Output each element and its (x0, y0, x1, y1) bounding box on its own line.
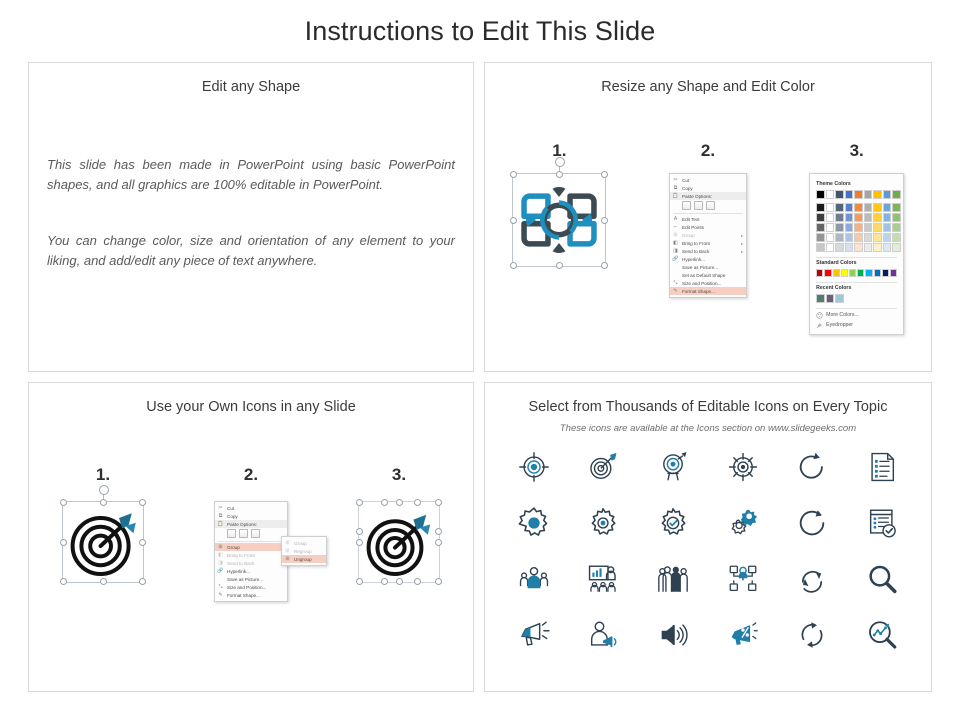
standard-colors-label: Standard Colors (816, 260, 897, 266)
menu-item-label: Size and Position... (227, 585, 284, 590)
theme-swatch-base[interactable] (854, 190, 863, 199)
own-icons-step-numbers: 1. 2. 3. (29, 465, 473, 485)
icon-cell-r1-c4[interactable] (708, 445, 778, 489)
theme-swatch-base[interactable] (845, 190, 854, 199)
menu-item-label: Group (227, 545, 278, 550)
theme-swatch-shade-2[interactable] (816, 213, 825, 222)
standard-swatch-9[interactable] (882, 269, 889, 278)
menu-item-cut[interactable]: ✂Cut (215, 504, 287, 512)
icon-cell-r2-c6[interactable] (847, 501, 917, 545)
theme-color-column-6[interactable] (864, 190, 873, 252)
recent-swatch-2[interactable] (826, 294, 835, 303)
standard-swatch-3[interactable] (833, 269, 840, 278)
format-shape-icon: ✎ (217, 592, 224, 599)
paste-option-3-icon[interactable] (251, 529, 260, 538)
target-handle-bottom-right[interactable] (139, 578, 146, 585)
paste-option-buttons[interactable] (215, 528, 287, 539)
icon-cell-r2-c2[interactable] (569, 501, 639, 545)
recent-colors-row[interactable] (816, 294, 897, 303)
edit-points-icon: ⌐ (672, 224, 679, 231)
theme-swatch-shade-1[interactable] (892, 203, 901, 212)
theme-swatch-shade-3[interactable] (864, 223, 873, 232)
palette-icon (816, 312, 823, 319)
menu-item-save-as-picture[interactable]: Save as Picture... (215, 575, 287, 583)
menu-item-group[interactable]: ⊞Group▸ (215, 543, 287, 551)
theme-swatch-base[interactable] (864, 190, 873, 199)
own-icons-illustrations: ✂Cut⧉Copy📋Paste Options:⊞Group▸◧Bring to… (29, 501, 473, 602)
shape-selection-frame[interactable] (512, 173, 606, 267)
eyedropper-option[interactable]: Eyedropper (816, 322, 897, 329)
menu-item-size-and-position[interactable]: ⤡Size and Position... (670, 279, 746, 287)
theme-swatch-base[interactable] (816, 190, 825, 199)
menu-item-copy[interactable]: ⧉Copy (670, 184, 746, 192)
menu-item-label: Cut (227, 506, 284, 511)
theme-swatch-base[interactable] (883, 190, 892, 199)
icon-cell-r2-c3[interactable] (638, 501, 708, 545)
speaker-sound-icon (656, 618, 690, 652)
menu-item-label: Format Shape... (227, 593, 284, 598)
menu-item-label: Size and Position... (682, 281, 743, 286)
submenu-item-label: Ungroup (294, 557, 323, 562)
icon-step-number-2: 2. (177, 465, 325, 485)
theme-swatch-shade-2[interactable] (845, 213, 854, 222)
theme-color-column-7[interactable] (873, 190, 882, 252)
theme-color-column-2[interactable] (826, 190, 835, 252)
menu-item-send-to-back[interactable]: ◨Send to Back▸ (215, 559, 287, 567)
color-divider-1 (816, 257, 897, 258)
recent-swatch-1[interactable] (816, 294, 825, 303)
theme-swatch-shade-5[interactable] (864, 243, 873, 252)
sub-handle-e[interactable] (381, 578, 388, 585)
submenu-item-group[interactable]: ⊞Group (282, 539, 326, 547)
group-context-menu[interactable]: ✂Cut⧉Copy📋Paste Options:⊞Group▸◧Bring to… (214, 501, 288, 602)
swatch-gap (845, 200, 854, 202)
theme-swatch-shade-4[interactable] (864, 233, 873, 242)
theme-swatch-shade-3[interactable] (854, 223, 863, 232)
theme-swatch-shade-4[interactable] (854, 233, 863, 242)
format-shape-icon: ✎ (672, 288, 679, 295)
theme-swatch-shade-3[interactable] (873, 223, 882, 232)
theme-swatch-shade-1[interactable] (845, 203, 854, 212)
theme-colors-grid[interactable] (816, 190, 897, 252)
icon-cell-r4-c2[interactable] (569, 613, 639, 657)
theme-swatch-shade-4[interactable] (835, 233, 844, 242)
menu-item-edit-text[interactable]: AEdit Text (670, 215, 746, 223)
send-back-icon: ◨ (217, 560, 224, 567)
swatch-gap (835, 200, 844, 202)
resize-handle-bottom-center[interactable] (556, 262, 563, 269)
standard-swatch-4[interactable] (841, 269, 848, 278)
copy-icon: ⧉ (217, 513, 224, 520)
gears-dual-icon (726, 506, 760, 540)
icon-cell-r4-c1[interactable] (499, 613, 569, 657)
theme-swatch-shade-3[interactable] (845, 223, 854, 232)
color-divider-2 (816, 282, 897, 283)
icon-cell-r3-c2[interactable] (569, 557, 639, 601)
group-icon: ⊞ (284, 548, 291, 555)
standard-swatch-10[interactable] (890, 269, 897, 278)
paste-option-1-icon[interactable] (227, 529, 236, 538)
theme-swatch-shade-2[interactable] (826, 213, 835, 222)
quad-module-shape-icon (513, 174, 605, 266)
menu-item-label: Copy (682, 186, 743, 191)
menu-item-label: Save as Picture... (682, 265, 743, 270)
menu-item-label: Group (682, 233, 737, 238)
target-selection-frame[interactable] (62, 501, 144, 583)
submenu-item-label: Group (294, 541, 323, 546)
theme-colors-label: Theme Colors (816, 181, 897, 187)
theme-swatch-shade-3[interactable] (816, 223, 825, 232)
menu-item-cut[interactable]: ✂Cut (670, 176, 746, 184)
theme-swatch-shade-4[interactable] (816, 233, 825, 242)
eyedropper-icon (816, 322, 823, 329)
menu-item-bring-to-front[interactable]: ◧Bring to Front▸ (670, 239, 746, 247)
target-rotation-handle[interactable] (99, 485, 109, 495)
icon-cell-r4-c3[interactable] (638, 613, 708, 657)
menu-item-bring-to-front[interactable]: ◧Bring to Front▸ (215, 551, 287, 559)
theme-swatch-shade-5[interactable] (835, 243, 844, 252)
theme-swatch-shade-1[interactable] (864, 203, 873, 212)
theme-swatch-shade-4[interactable] (892, 233, 901, 242)
standard-swatch-5[interactable] (849, 269, 856, 278)
icon-step-number-3: 3. (325, 465, 473, 485)
menu-separator (673, 213, 743, 214)
menu-item-label: Hyperlink... (227, 569, 284, 574)
menu-item-label: Bring to Front (227, 553, 278, 558)
eyedropper-label: Eyedropper (826, 322, 853, 328)
menu-item-label: Set as Default Shape (682, 273, 743, 278)
rotation-handle[interactable] (555, 157, 565, 167)
theme-color-column-8[interactable] (883, 190, 892, 252)
menu-item-paste-options[interactable]: 📋Paste Options: (670, 192, 746, 200)
theme-swatch-shade-2[interactable] (854, 213, 863, 222)
menu-item-label: Cut (682, 178, 743, 183)
panel-resize-shape: Resize any Shape and Edit Color 1. 2. 3. (484, 62, 932, 372)
menu-item-hyperlink[interactable]: 🔗Hyperlink... (215, 567, 287, 575)
theme-swatch-shade-5[interactable] (826, 243, 835, 252)
more-colors-option[interactable]: More Colors... (816, 312, 897, 319)
megaphone-percent-icon (726, 618, 760, 652)
sub-handle-d[interactable] (435, 528, 442, 535)
submenu-item-label: Regroup (294, 549, 323, 554)
menu-item-label: Hyperlink... (682, 257, 743, 262)
scissors-icon: ✂ (672, 177, 679, 184)
standard-swatch-7[interactable] (865, 269, 872, 278)
target-handle-middle-left[interactable] (60, 539, 67, 546)
menu-item-label: Format Shape... (682, 289, 743, 294)
edit-shape-paragraph-2: You can change color, size and orientati… (47, 231, 455, 271)
theme-swatch-base[interactable] (892, 190, 901, 199)
resize-handle-bottom-right[interactable] (601, 262, 608, 269)
refresh-clockwise-icon (795, 450, 829, 484)
standard-colors-row[interactable] (816, 269, 897, 278)
color-picker-panel[interactable]: Theme Colors Standard Colors Recent Colo… (809, 173, 904, 335)
icon-cell-r2-c1[interactable] (499, 501, 569, 545)
panel-icon-library: Select from Thousands of Editable Icons … (484, 382, 932, 692)
menu-item-label: Send to Back (682, 249, 737, 254)
magnifier-icon (865, 562, 899, 596)
gear-outline-icon (586, 506, 620, 540)
menu-item-label: Save as Picture... (227, 577, 284, 582)
menu-item-set-as-default-shape[interactable]: Set as Default Shape (670, 271, 746, 279)
theme-swatch-shade-3[interactable] (835, 223, 844, 232)
icon-cell-r2-c4[interactable] (708, 501, 778, 545)
hyperlink-icon: 🔗 (217, 568, 224, 575)
hyperlink-icon: 🔗 (672, 256, 679, 263)
menu-item-format-shape[interactable]: ✎Format Shape... (215, 591, 287, 599)
swatch-gap (826, 200, 835, 202)
edit-text-icon: A (672, 216, 679, 223)
ungrouped-target-frame[interactable] (358, 501, 440, 583)
theme-color-column-3[interactable] (835, 190, 844, 252)
group-icon: ⊞ (284, 540, 291, 547)
edit-shape-paragraph-1: This slide has been made in PowerPoint u… (47, 155, 455, 195)
icon-cell-r3-c5[interactable] (778, 557, 848, 601)
icon-cell-r3-c6[interactable] (847, 557, 917, 601)
group-icon: ⊞ (284, 556, 291, 563)
theme-swatch-base[interactable] (835, 190, 844, 199)
target-arrow-icon (586, 450, 620, 484)
checklist-document-icon (865, 450, 899, 484)
gear-check-icon (656, 506, 690, 540)
icon-cell-r1-c6[interactable] (847, 445, 917, 489)
theme-swatch-shade-5[interactable] (845, 243, 854, 252)
menu-separator (218, 541, 284, 542)
megaphone-icon (517, 618, 551, 652)
icon-library-grid (499, 445, 917, 657)
sub-handle-a[interactable] (381, 499, 388, 506)
theme-swatch-shade-1[interactable] (883, 203, 892, 212)
document-approved-icon (865, 506, 899, 540)
swatch-gap (816, 200, 825, 202)
menu-item-label: Edit Points (682, 225, 743, 230)
theme-swatch-shade-3[interactable] (892, 223, 901, 232)
more-colors-label: More Colors... (826, 312, 859, 318)
theme-swatch-shade-2[interactable] (864, 213, 873, 222)
panel-title-resize-shape: Resize any Shape and Edit Color (485, 79, 931, 95)
sub-handle-c[interactable] (356, 528, 363, 535)
recent-colors-label: Recent Colors (816, 285, 897, 291)
icon-step-3-stage (325, 501, 473, 583)
icon-cell-r4-c4[interactable] (708, 613, 778, 657)
icon-cell-r1-c1[interactable] (499, 445, 569, 489)
recent-swatch-3[interactable] (835, 294, 844, 303)
icon-cell-r3-c3[interactable] (638, 557, 708, 601)
target-handle-top-left[interactable] (60, 499, 67, 506)
page-title: Instructions to Edit This Slide (0, 16, 960, 47)
sub-handle-b[interactable] (414, 499, 421, 506)
target-arrow-icon (63, 502, 143, 582)
paste-option-1-icon[interactable] (682, 201, 691, 210)
theme-swatch-shade-1[interactable] (816, 203, 825, 212)
panel-title-icon-library: Select from Thousands of Editable Icons … (485, 399, 931, 415)
icon-step-1-stage (29, 501, 177, 583)
step-number-3: 3. (782, 141, 931, 161)
resize-step-numbers: 1. 2. 3. (485, 141, 931, 161)
sub-handle-f[interactable] (414, 578, 421, 585)
menu-item-label: Paste Options: (682, 194, 743, 199)
target-handle-middle-right[interactable] (139, 539, 146, 546)
menu-item-save-as-picture[interactable]: Save as Picture... (670, 263, 746, 271)
target-stand-icon (656, 450, 690, 484)
theme-swatch-shade-1[interactable] (835, 203, 844, 212)
resize-step-3-stage: Theme Colors Standard Colors Recent Colo… (782, 173, 931, 335)
submenu-item-ungroup[interactable]: ⊞Ungroup (282, 555, 326, 563)
icon-cell-r3-c4[interactable] (708, 557, 778, 601)
icon-step-number-1: 1. (29, 465, 177, 485)
people-group-icon (517, 562, 551, 596)
menu-item-label: Bring to Front (682, 241, 737, 246)
resize-handle-bottom-left[interactable] (510, 262, 517, 269)
menu-item-label: Edit Text (682, 217, 743, 222)
standard-swatch-8[interactable] (874, 269, 881, 278)
bring-front-icon: ◧ (672, 240, 679, 247)
paste-option-2-icon[interactable] (694, 201, 703, 210)
paste-option-3-icon[interactable] (706, 201, 715, 210)
swatch-gap (854, 200, 863, 202)
menu-item-group[interactable]: ⊞Group▸ (670, 231, 746, 239)
standard-swatch-6[interactable] (857, 269, 864, 278)
gear-filled-icon (517, 506, 551, 540)
paste-option-buttons[interactable] (670, 200, 746, 211)
shape-context-menu[interactable]: ✂Cut⧉Copy📋Paste Options:AEdit Text⌐Edit … (669, 173, 747, 298)
icon-cell-r4-c6[interactable] (847, 613, 917, 657)
magnifier-chart-icon (865, 618, 899, 652)
sync-arrows-icon (795, 562, 829, 596)
resize-handle-middle-right[interactable] (601, 217, 608, 224)
theme-swatch-base[interactable] (873, 190, 882, 199)
panel-title-edit-shape: Edit any Shape (29, 79, 473, 95)
icon-step-2-stage: ✂Cut⧉Copy📋Paste Options:⊞Group▸◧Bring to… (177, 501, 325, 602)
menu-item-paste-options[interactable]: 📋Paste Options: (215, 520, 287, 528)
theme-swatch-shade-2[interactable] (883, 213, 892, 222)
send-back-icon: ◨ (672, 248, 679, 255)
theme-swatch-shade-1[interactable] (873, 203, 882, 212)
theme-swatch-shade-1[interactable] (826, 203, 835, 212)
menu-item-edit-points[interactable]: ⌐Edit Points (670, 223, 746, 231)
icon-cell-r3-c1[interactable] (499, 557, 569, 601)
theme-swatch-base[interactable] (826, 190, 835, 199)
paste-icon: 📋 (672, 193, 679, 200)
crosshair-scope-icon (726, 450, 760, 484)
swatch-gap (864, 200, 873, 202)
chevron-right-icon: ▸ (741, 241, 743, 246)
menu-item-label: Send to Back (227, 561, 278, 566)
menu-item-send-to-back[interactable]: ◨Send to Back▸ (670, 247, 746, 255)
theme-swatch-shade-2[interactable] (835, 213, 844, 222)
bring-front-icon: ◧ (217, 552, 224, 559)
theme-swatch-shade-2[interactable] (892, 213, 901, 222)
icon-library-subtitle: These icons are available at the Icons s… (485, 423, 931, 434)
standard-swatch-2[interactable] (824, 269, 831, 278)
icon-cell-r1-c2[interactable] (569, 445, 639, 489)
paste-option-2-icon[interactable] (239, 529, 248, 538)
resize-handle-top-right[interactable] (601, 171, 608, 178)
slide-canvas: Instructions to Edit This Slide Edit any… (0, 0, 960, 720)
color-divider-3 (816, 308, 897, 309)
step-number-2: 2. (634, 141, 783, 161)
menu-item-size-and-position[interactable]: ⤡Size and Position... (215, 583, 287, 591)
theme-swatch-shade-5[interactable] (892, 243, 901, 252)
target-handle-top-right[interactable] (139, 499, 146, 506)
group-submenu[interactable]: ⊞Group⊞Regroup⊞Ungroup (281, 536, 327, 566)
scissors-icon: ✂ (217, 505, 224, 512)
panel-own-icons: Use your Own Icons in any Slide 1. 2. 3. (28, 382, 474, 692)
theme-swatch-shade-2[interactable] (873, 213, 882, 222)
icon-cell-r2-c5[interactable] (778, 501, 848, 545)
swatch-gap (883, 200, 892, 202)
resize-step-2-stage: ✂Cut⧉Copy📋Paste Options:AEdit Text⌐Edit … (634, 173, 783, 298)
theme-swatch-shade-4[interactable] (845, 233, 854, 242)
theme-swatch-shade-5[interactable] (883, 243, 892, 252)
resize-step-1-stage (485, 173, 634, 267)
icon-cell-r1-c5[interactable] (778, 445, 848, 489)
swatch-gap (873, 200, 882, 202)
target-handle-top-center[interactable] (100, 499, 107, 506)
chevron-right-icon: ▸ (741, 233, 743, 238)
menu-item-label: Copy (227, 514, 284, 519)
group-icon: ⊞ (217, 544, 224, 551)
crosshair-target-icon (517, 450, 551, 484)
resize-step-illustrations: ✂Cut⧉Copy📋Paste Options:AEdit Text⌐Edit … (485, 173, 931, 335)
standard-swatch-1[interactable] (816, 269, 823, 278)
submenu-item-regroup[interactable]: ⊞Regroup (282, 547, 326, 555)
paste-icon: 📋 (217, 521, 224, 528)
group-icon: ⊞ (672, 232, 679, 239)
org-chart-icon (726, 562, 760, 596)
panel-title-own-icons: Use your Own Icons in any Slide (29, 399, 473, 415)
theme-swatch-shade-4[interactable] (883, 233, 892, 242)
theme-swatch-shade-3[interactable] (826, 223, 835, 232)
circular-arrows-icon (795, 618, 829, 652)
theme-color-column-1[interactable] (816, 190, 825, 252)
icon-cell-r4-c5[interactable] (778, 613, 848, 657)
menu-item-copy[interactable]: ⧉Copy (215, 512, 287, 520)
chevron-right-icon: ▸ (741, 249, 743, 254)
theme-swatch-shade-4[interactable] (873, 233, 882, 242)
theme-swatch-shade-5[interactable] (873, 243, 882, 252)
icon-cell-r1-c3[interactable] (638, 445, 708, 489)
ungrouped-target-arrow-icon (359, 502, 439, 582)
theme-swatch-shade-4[interactable] (826, 233, 835, 242)
theme-swatch-shade-5[interactable] (854, 243, 863, 252)
menu-item-label: Paste Options: (227, 522, 284, 527)
theme-color-column-4[interactable] (845, 190, 854, 252)
person-megaphone-icon (586, 618, 620, 652)
copy-icon: ⧉ (672, 185, 679, 192)
target-handle-bottom-center[interactable] (100, 578, 107, 585)
theme-color-column-5[interactable] (854, 190, 863, 252)
panel-edit-any-shape: Edit any Shape This slide has been made … (28, 62, 474, 372)
theme-swatch-shade-1[interactable] (854, 203, 863, 212)
size-position-icon: ⤡ (672, 280, 679, 287)
menu-item-hyperlink[interactable]: 🔗Hyperlink... (670, 255, 746, 263)
theme-color-column-9[interactable] (892, 190, 901, 252)
size-position-icon: ⤡ (217, 584, 224, 591)
theme-swatch-shade-5[interactable] (816, 243, 825, 252)
theme-swatch-shade-3[interactable] (883, 223, 892, 232)
swatch-gap (892, 200, 901, 202)
refresh-circle-icon (795, 506, 829, 540)
menu-item-format-shape[interactable]: ✎Format Shape... (670, 287, 746, 295)
presentation-audience-icon (586, 562, 620, 596)
target-handle-bottom-left[interactable] (60, 578, 67, 585)
team-standing-icon (656, 562, 690, 596)
